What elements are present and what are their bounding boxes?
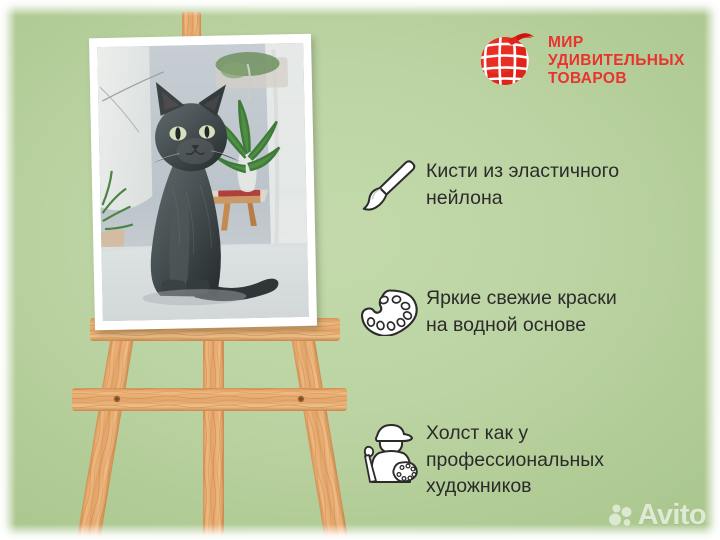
feature-icon-slot xyxy=(352,157,426,217)
feature-icon-slot xyxy=(352,419,426,484)
brand-name: МИР УДИВИТЕЛЬНЫХ ТОВАРОВ xyxy=(548,34,685,88)
artist-with-palette-icon xyxy=(359,422,419,484)
cat-photo xyxy=(97,43,309,321)
brand-logo: МИР УДИВИТЕЛЬНЫХ ТОВАРОВ xyxy=(472,28,685,94)
paintbrush-icon xyxy=(361,159,417,217)
feature-item-brushes: Кисти из эластичного нейлона xyxy=(352,157,712,217)
canvas-card xyxy=(89,34,317,331)
paint-palette-icon xyxy=(359,288,419,336)
brand-line-1: МИР xyxy=(548,34,685,52)
red-globe-icon xyxy=(472,28,538,94)
avito-label: Avito xyxy=(638,499,706,532)
avito-watermark: Avito xyxy=(608,499,706,532)
feature-text: Кисти из эластичного нейлона xyxy=(426,157,619,211)
feature-item-paints: Яркие свежие краски на водной основе xyxy=(352,284,712,338)
feature-text: Холст как у профессиональных художников xyxy=(426,419,604,500)
easel-with-canvas xyxy=(60,0,360,540)
feature-text: Яркие свежие краски на водной основе xyxy=(426,284,617,338)
feature-icon-slot xyxy=(352,284,426,336)
feature-item-canvas: Холст как у профессиональных художников xyxy=(352,419,712,500)
avito-dots-icon xyxy=(608,503,634,529)
brand-line-3: ТОВАРОВ xyxy=(548,70,685,88)
brand-line-2: УДИВИТЕЛЬНЫХ xyxy=(548,52,685,70)
promo-image: МИР УДИВИТЕЛЬНЫХ ТОВАРОВ Кисти из эласти… xyxy=(0,0,720,540)
